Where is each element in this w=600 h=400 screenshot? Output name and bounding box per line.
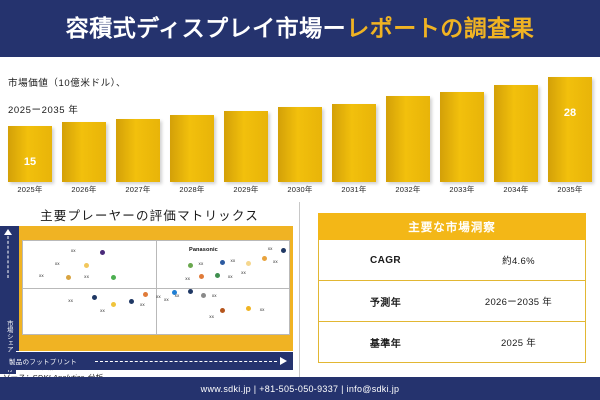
matrix-data-point-label: xx xyxy=(100,308,105,313)
matrix-scatter-plot: Panasonic xxxxxxxxxxxxxxxxxxxxxxxxxxxxxx… xyxy=(22,240,290,335)
matrix-data-point xyxy=(84,263,89,268)
insights-row-value: 2025 年 xyxy=(452,335,585,349)
matrix-data-point xyxy=(215,273,220,278)
x-axis-dashed-line xyxy=(95,361,277,362)
matrix-data-point xyxy=(246,306,251,311)
key-market-insights-table: 主要な市場洞察 CAGR約4.6%予測年2026ー2035 年基準年2025 年 xyxy=(318,213,586,361)
matrix-data-point-label: xx xyxy=(228,274,233,279)
page-title: 容積式ディスプレイ市場ーレポートの調査果 xyxy=(66,17,534,40)
matrix-data-point-label: xx xyxy=(273,259,278,264)
bar xyxy=(62,122,106,182)
bar xyxy=(494,85,538,182)
bar xyxy=(116,119,160,182)
matrix-x-axis-label: 製品のフットプリント xyxy=(9,356,77,366)
matrix-data-point-label: xx xyxy=(68,298,73,303)
matrix-data-point-label: xx xyxy=(164,297,169,302)
matrix-data-point xyxy=(66,275,71,280)
matrix-data-point xyxy=(246,261,251,266)
matrix-data-point xyxy=(220,260,225,265)
page-title-accent: レポートの調査果 xyxy=(346,15,534,41)
bar-value-label: 15 xyxy=(24,156,36,168)
insights-row: 基準年2025 年 xyxy=(319,322,585,362)
x-axis-tick-label: 2031年 xyxy=(332,184,376,198)
header-banner: 容積式ディスプレイ市場ーレポートの調査果 xyxy=(0,0,600,57)
insights-header: 主要な市場洞察 xyxy=(318,213,586,240)
player-label-panasonic: Panasonic xyxy=(189,247,218,253)
matrix-data-point-label: xx xyxy=(209,314,214,319)
matrix-data-point xyxy=(111,275,116,280)
matrix-data-point xyxy=(199,274,204,279)
chart-bars: 1528 xyxy=(8,64,592,182)
matrix-data-point xyxy=(281,248,286,253)
x-axis-tick-label: 2028年 xyxy=(170,184,214,198)
player-matrix-panel: 主要プレーヤーの評価マトリックス 新興のリーダー スター 参加者 普及プレーヤー… xyxy=(0,202,300,377)
bar-column xyxy=(332,64,376,182)
matrix-data-point-label: xx xyxy=(230,258,235,263)
bar xyxy=(278,107,322,182)
bar xyxy=(386,96,430,182)
bar-value-label: 28 xyxy=(564,107,576,119)
bar: 15 xyxy=(8,126,52,182)
matrix-data-point-label: xx xyxy=(212,293,217,298)
matrix-data-point xyxy=(188,289,193,294)
matrix-data-point-label: xx xyxy=(185,276,190,281)
x-axis-tick-label: 2026年 xyxy=(62,184,106,198)
matrix-data-point-label: xx xyxy=(199,261,204,266)
bar-column xyxy=(62,64,106,182)
insights-row-value: 2026ー2035 年 xyxy=(452,294,585,308)
y-axis-dashed-line xyxy=(8,236,9,278)
matrix-data-point xyxy=(188,263,193,268)
bar-chart: 市場価値（10億米ドル）、 2025ー2035 年 1528 2025年2026… xyxy=(0,57,600,202)
bar xyxy=(170,115,214,182)
matrix-data-point-label: xx xyxy=(84,274,89,279)
x-axis-tick-label: 2029年 xyxy=(224,184,268,198)
matrix-data-point-label: xx xyxy=(71,248,76,253)
bar xyxy=(440,92,484,182)
matrix-data-point xyxy=(262,256,267,261)
bar-column: 15 xyxy=(8,64,52,182)
footer-contact: www.sdki.jp | +81-505-050-9337 | info@sd… xyxy=(201,384,400,394)
bar-column xyxy=(278,64,322,182)
bar-column xyxy=(224,64,268,182)
matrix-data-point xyxy=(143,292,148,297)
matrix-data-point-label: xx xyxy=(260,307,265,312)
bar-column xyxy=(116,64,160,182)
bar-column xyxy=(494,64,538,182)
insights-row-key: 予測年 xyxy=(319,294,452,309)
matrix-data-point xyxy=(129,299,134,304)
right-arrow-icon xyxy=(280,357,287,365)
insights-row: CAGR約4.6% xyxy=(319,240,585,281)
page-title-primary: 容積式ディスプレイ市場ー xyxy=(66,15,346,41)
plot-horizontal-divider xyxy=(23,288,289,289)
matrix-data-point-label: xx xyxy=(175,293,180,298)
x-axis-tick-label: 2033年 xyxy=(440,184,484,198)
bar-column: 28 xyxy=(548,64,592,182)
x-axis-tick-label: 2035年 xyxy=(548,184,592,198)
matrix-data-point xyxy=(220,308,225,313)
matrix-data-point-label: xx xyxy=(39,273,44,278)
matrix-data-point xyxy=(92,295,97,300)
matrix-data-point-label: xx xyxy=(156,294,161,299)
bar xyxy=(224,111,268,182)
matrix-data-point xyxy=(111,302,116,307)
matrix-data-point xyxy=(100,250,105,255)
bar-column xyxy=(386,64,430,182)
insights-row: 予測年2026ー2035 年 xyxy=(319,281,585,322)
infographic-poster: 容積式ディスプレイ市場ーレポートの調査果 市場価値（10億米ドル）、 2025ー… xyxy=(0,0,600,400)
matrix-data-point-label: xx xyxy=(268,246,273,251)
matrix-data-point-label: xx xyxy=(140,302,145,307)
x-axis-tick-label: 2030年 xyxy=(278,184,322,198)
matrix-data-point-label: xx xyxy=(55,261,60,266)
insights-row-key: CAGR xyxy=(319,255,452,266)
matrix-x-axis: 製品のフットプリント xyxy=(3,352,293,370)
insights-body: CAGR約4.6%予測年2026ー2035 年基準年2025 年 xyxy=(318,240,586,363)
insights-row-key: 基準年 xyxy=(319,335,452,350)
x-axis-tick-label: 2025年 xyxy=(8,184,52,198)
up-arrow-icon xyxy=(4,229,12,235)
x-axis-tick-label: 2034年 xyxy=(494,184,538,198)
bar xyxy=(332,104,376,182)
footer-bar: www.sdki.jp | +81-505-050-9337 | info@sd… xyxy=(0,377,600,400)
x-axis-tick-label: 2032年 xyxy=(386,184,430,198)
matrix-data-point-label: xx xyxy=(241,270,246,275)
bar: 28 xyxy=(548,77,592,182)
insights-row-value: 約4.6% xyxy=(452,253,585,267)
chart-x-axis: 2025年2026年2027年2028年2029年2030年2031年2032年… xyxy=(8,184,592,198)
bar-column xyxy=(170,64,214,182)
matrix-data-point xyxy=(201,293,206,298)
x-axis-tick-label: 2027年 xyxy=(116,184,160,198)
bar-column xyxy=(440,64,484,182)
matrix-title: 主要プレーヤーの評価マトリックス xyxy=(0,205,299,224)
